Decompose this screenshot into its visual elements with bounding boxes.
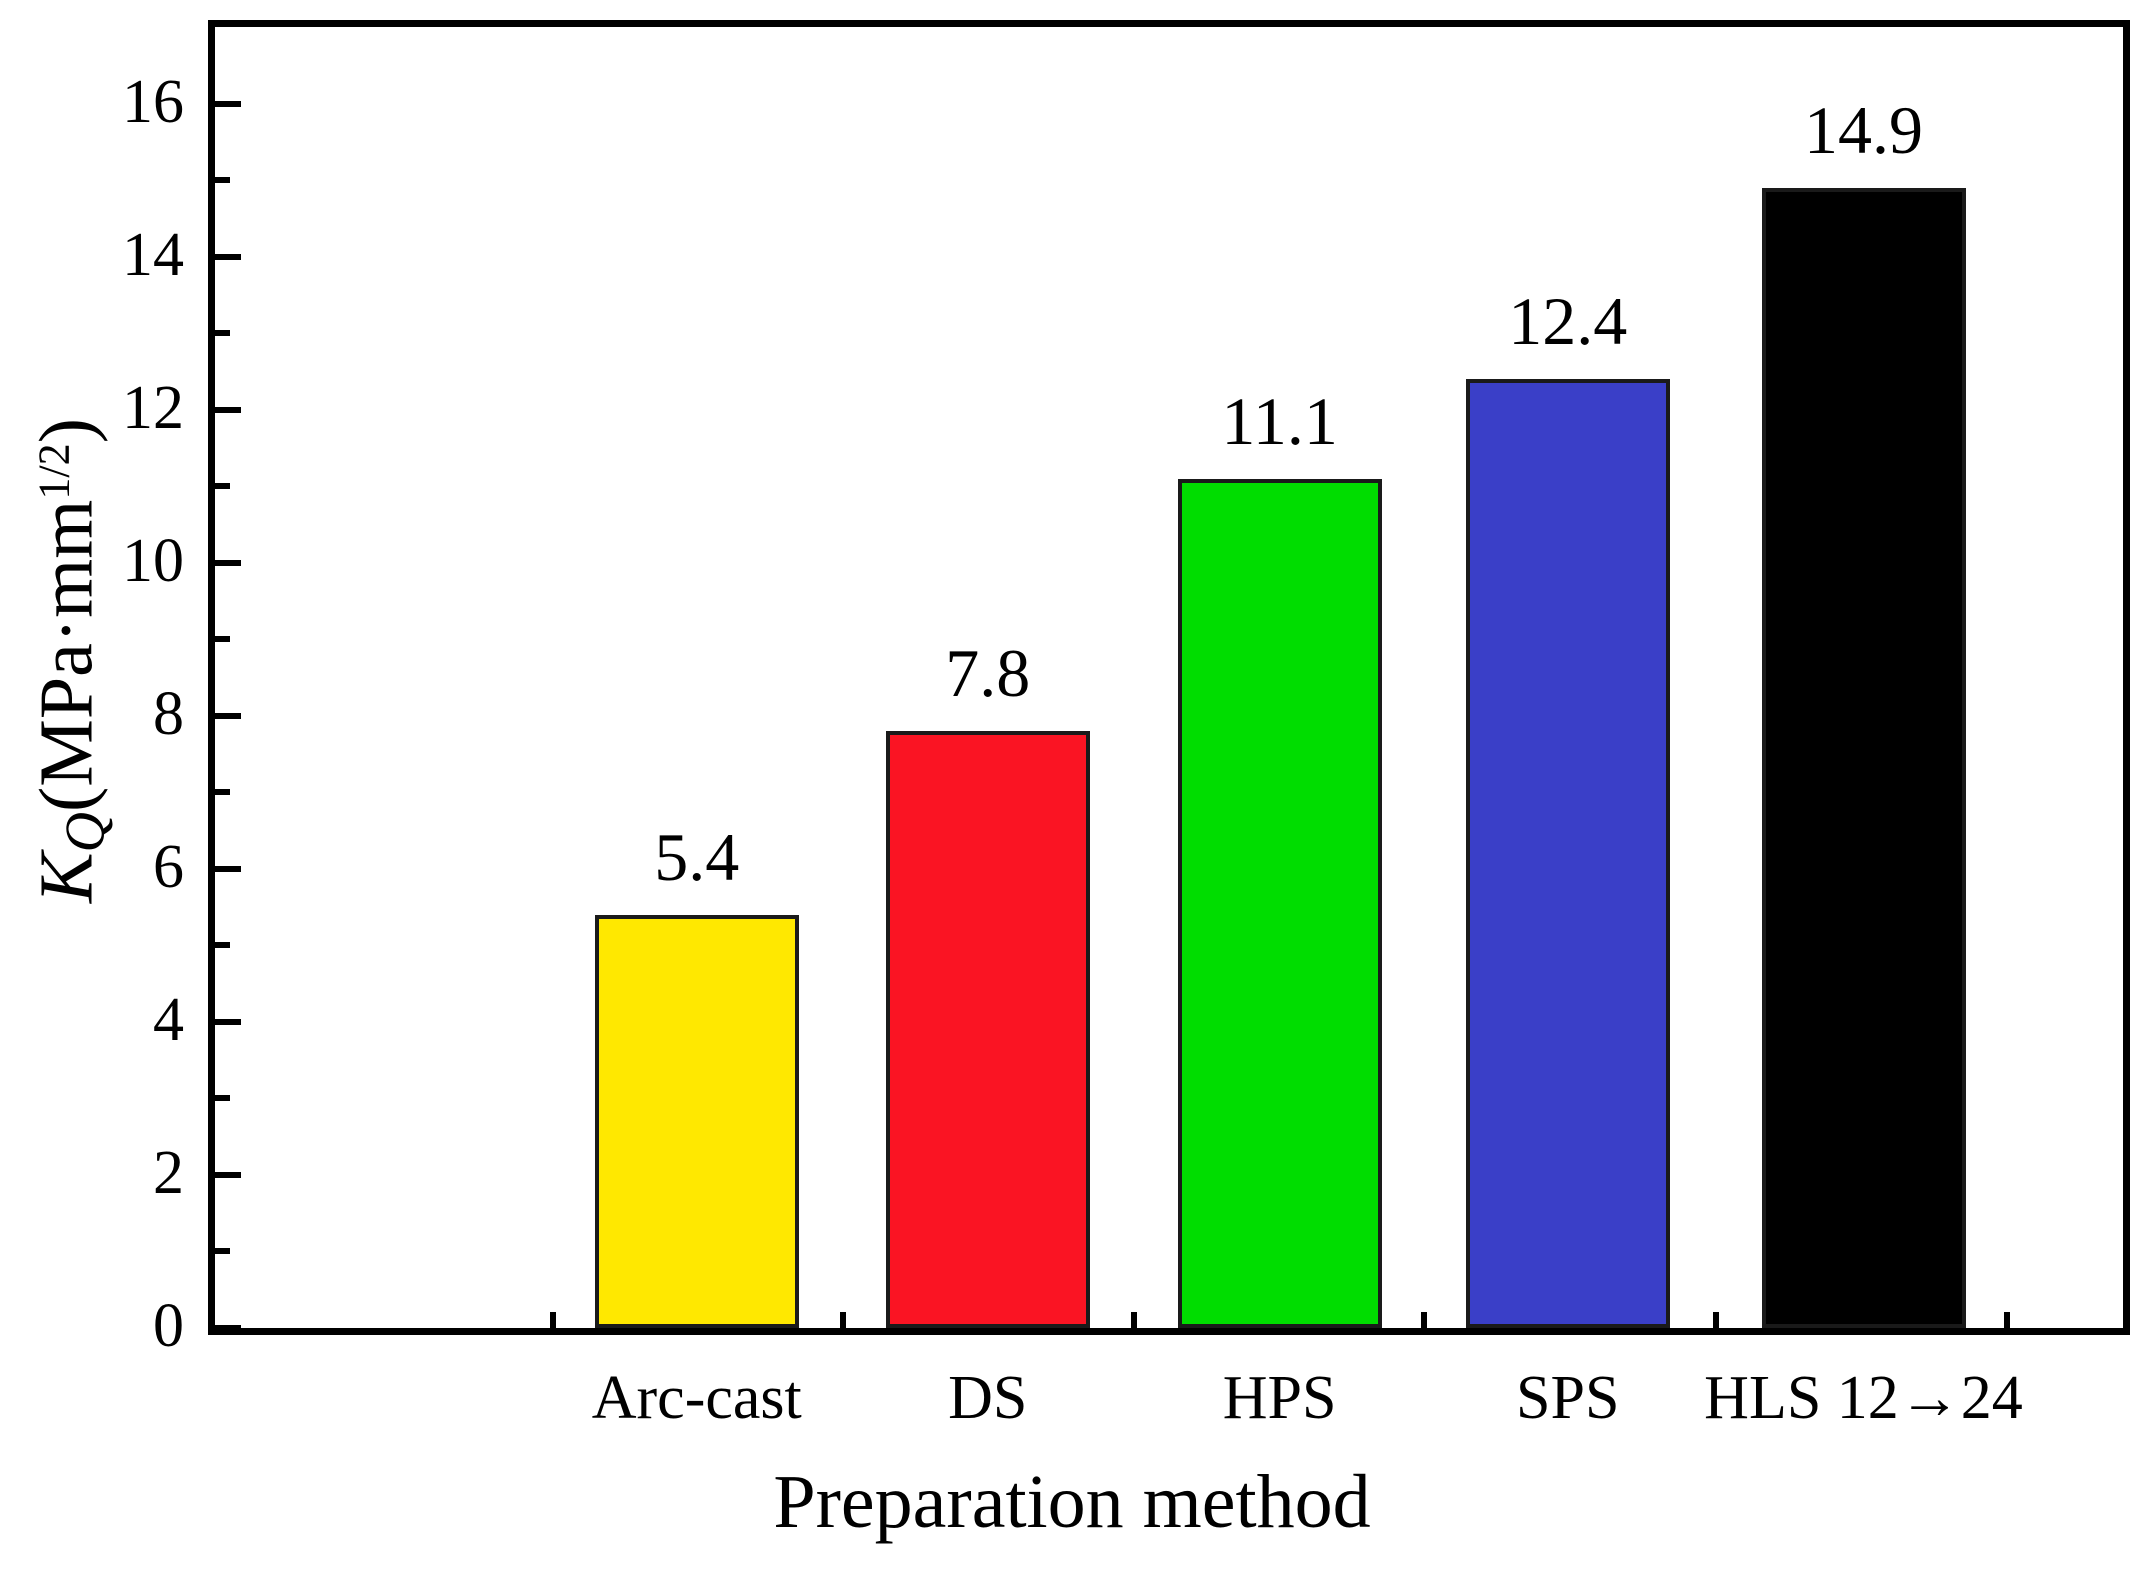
y-tick-minor (215, 942, 230, 948)
y-axis-unit-close: ) (24, 418, 108, 443)
x-tick-minor (1713, 1312, 1719, 1328)
y-tick-minor (215, 789, 230, 795)
y-tick-major (215, 101, 241, 107)
y-tick-major (215, 407, 241, 413)
bar-value-label: 5.4 (537, 823, 857, 891)
y-tick-major (215, 1325, 241, 1331)
y-tick-label: 16 (34, 71, 184, 133)
y-axis-title: KQ(MPa·mm1/2) (14, 281, 125, 1041)
y-tick-minor (215, 330, 230, 336)
x-tick-minor (1131, 1312, 1137, 1328)
y-tick-label: 14 (34, 224, 184, 286)
y-tick-label: 0 (34, 1295, 184, 1357)
y-tick-major (215, 560, 241, 566)
bar (1178, 479, 1382, 1328)
y-tick-major (215, 713, 241, 719)
y-tick-minor (215, 636, 230, 642)
x-tick-minor (550, 1312, 556, 1328)
plot-area: 5.47.811.112.414.9 (215, 27, 2123, 1328)
bar (1466, 379, 1670, 1328)
plot-frame: 5.47.811.112.414.9 (208, 20, 2130, 1335)
bar-value-label: 7.8 (828, 639, 1148, 707)
x-tick-minor (840, 1312, 846, 1328)
y-tick-minor (215, 483, 230, 489)
bar-value-label: 12.4 (1408, 287, 1728, 355)
y-tick-label: 2 (34, 1142, 184, 1204)
y-axis-symbol-subscript: Q (55, 812, 117, 852)
x-axis-title: Preparation method (0, 1462, 2144, 1542)
y-axis-symbol: K (24, 852, 108, 903)
y-tick-major (215, 1172, 241, 1178)
y-axis-unit-exponent: 1/2 (29, 443, 78, 499)
x-tick-minor (2004, 1312, 2010, 1328)
y-tick-major (215, 254, 241, 260)
x-tick-minor (1421, 1312, 1427, 1328)
x-category-label: HLS 12→24 (1604, 1367, 2124, 1429)
bar (886, 731, 1090, 1328)
bar (1762, 188, 1966, 1328)
y-axis-unit-open: (MPa·mm (24, 500, 108, 812)
y-tick-major (215, 866, 241, 872)
y-tick-minor (215, 1248, 230, 1254)
y-tick-minor (215, 1095, 230, 1101)
bar-chart-figure: 0246810121416 5.47.811.112.414.9 Arc-cas… (0, 0, 2144, 1584)
bar-value-label: 11.1 (1120, 387, 1440, 455)
y-tick-minor (215, 177, 230, 183)
y-tick-major (215, 1019, 241, 1025)
bar-value-label: 14.9 (1704, 96, 2024, 164)
bar (595, 915, 799, 1328)
